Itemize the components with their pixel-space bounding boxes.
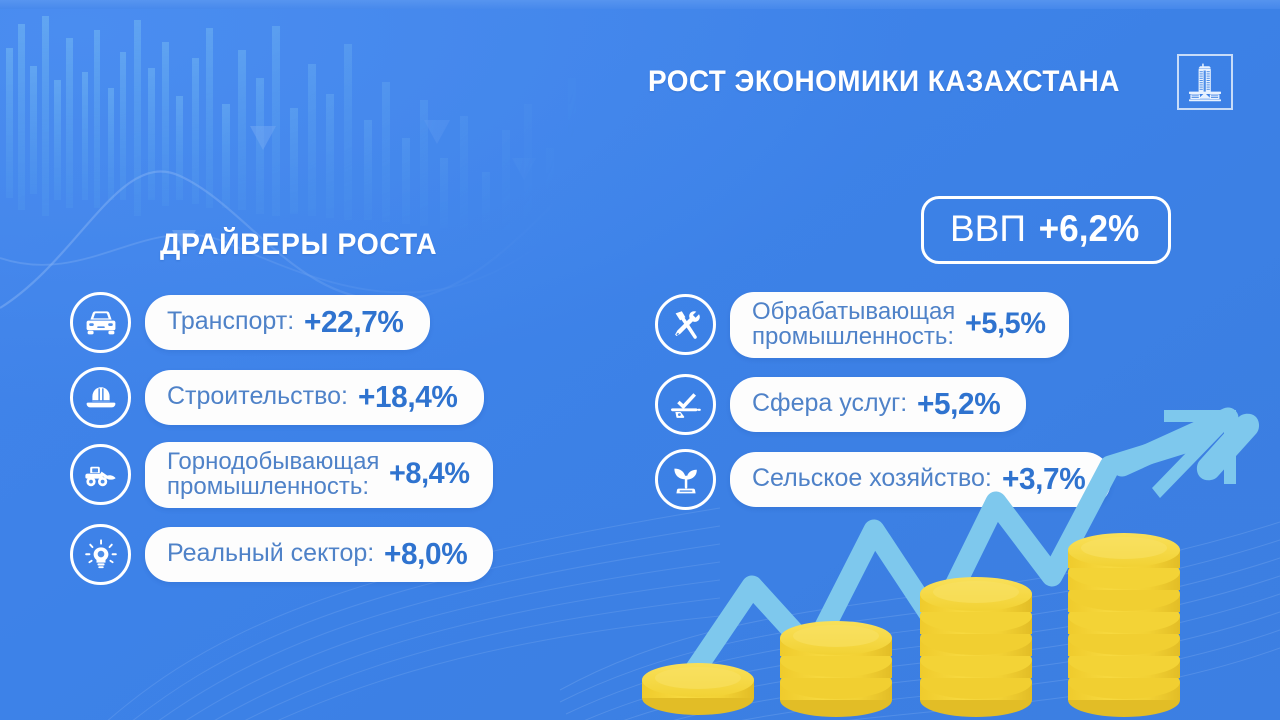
excavator-icon	[70, 444, 131, 505]
metric-label: Горнодобывающаяпромышленность:	[167, 449, 379, 500]
metric-label: Реальный сектор:	[167, 541, 374, 567]
metric-pill: Сфера услуг: +5,2%	[730, 377, 1026, 432]
drivers-list-right: Обрабатывающаяпромышленность: +5,5%	[655, 292, 1111, 524]
section-heading-drivers: ДРАЙВЕРЫ РОСТА	[160, 228, 437, 262]
list-item: Транспорт: +22,7%	[70, 292, 493, 353]
metric-label: Строительство:	[167, 384, 348, 410]
metric-value: +5,2%	[917, 386, 1000, 422]
lightbulb-icon	[70, 524, 131, 585]
car-icon	[70, 292, 131, 353]
metric-value: +5,5%	[965, 307, 1046, 341]
sprout-icon	[655, 449, 716, 510]
metric-value: +18,4%	[358, 379, 457, 415]
list-item: Сельское хозяйство: +3,7%	[655, 449, 1111, 510]
metric-label: Обрабатывающаяпромышленность:	[752, 299, 955, 350]
gdp-label: ВВП	[950, 208, 1026, 250]
metric-value: +3,7%	[1002, 461, 1085, 497]
metric-pill: Сельское хозяйство: +3,7%	[730, 452, 1111, 507]
metric-pill: Обрабатывающаяпромышленность: +5,5%	[730, 292, 1069, 358]
list-item: Обрабатывающаяпромышленность: +5,5%	[655, 292, 1111, 358]
gdp-value: +6,2%	[1039, 208, 1140, 250]
service-check-icon	[655, 374, 716, 435]
metric-pill: Горнодобывающаяпромышленность: +8,4%	[145, 442, 493, 508]
list-item: Горнодобывающаяпромышленность: +8,4%	[70, 442, 493, 508]
metric-value: +22,7%	[304, 304, 403, 340]
metric-label: Сфера услуг:	[752, 391, 907, 417]
background-chart-graphic	[0, 8, 700, 328]
hammer-wrench-icon	[655, 294, 716, 355]
list-item: Сфера услуг: +5,2%	[655, 374, 1111, 435]
metric-pill: Реальный сектор: +8,0%	[145, 527, 493, 582]
metric-pill: Транспорт: +22,7%	[145, 295, 430, 350]
metric-label: Транспорт:	[167, 309, 294, 335]
list-item: Строительство: +18,4%	[70, 367, 493, 428]
gdp-badge: ВВП +6,2%	[921, 196, 1171, 264]
page-title: РОСТ ЭКОНОМИКИ КАЗАХСТАНА	[648, 65, 1120, 99]
metric-label: Сельское хозяйство:	[752, 466, 992, 492]
drivers-list-left: Транспорт: +22,7%	[70, 292, 493, 599]
metric-value: +8,0%	[384, 536, 467, 572]
infographic-canvas: РОСТ ЭКОНОМИКИ КАЗАХСТАНА	[0, 0, 1280, 720]
hard-hat-icon	[70, 367, 131, 428]
metric-value: +8,4%	[389, 457, 470, 491]
list-item: Реальный сектор: +8,0%	[70, 524, 493, 585]
page-header: РОСТ ЭКОНОМИКИ КАЗАХСТАНА	[648, 54, 1233, 110]
metric-pill: Строительство: +18,4%	[145, 370, 484, 425]
government-building-icon	[1177, 54, 1233, 110]
